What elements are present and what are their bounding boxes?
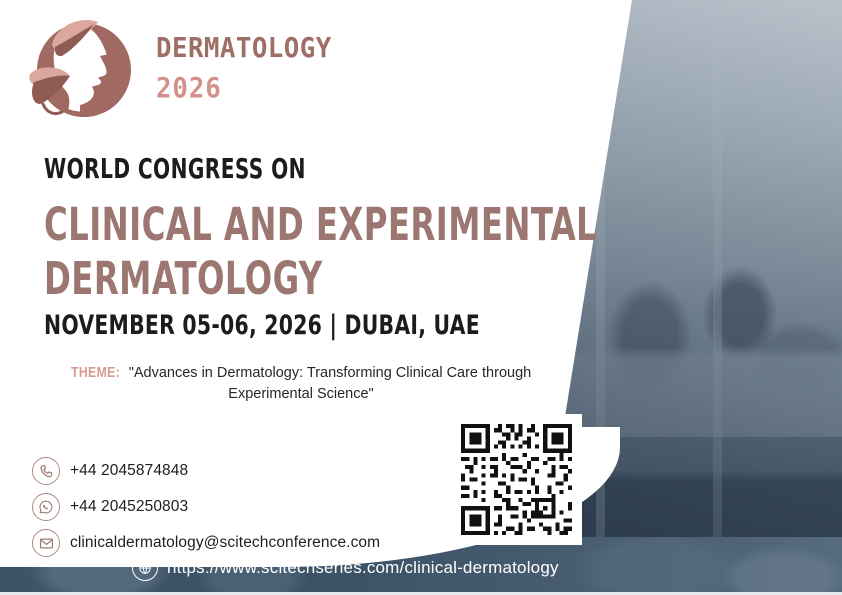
website-link[interactable]: https://www.scitechseries.com/clinical-d… bbox=[132, 555, 559, 581]
title-line-2: DERMATOLOGY bbox=[44, 252, 597, 306]
contact-row-whatsapp[interactable]: +44 2045250803 bbox=[32, 491, 380, 523]
phone-icon bbox=[32, 457, 60, 485]
globe-icon bbox=[132, 555, 158, 581]
woman-face-leaf-logo-icon bbox=[22, 12, 138, 128]
logo-wordmark: DERMATOLOGY 2026 bbox=[156, 34, 347, 102]
contact-list: +44 2045874848 +44 2045250803 clinicalde… bbox=[32, 455, 380, 563]
logo: DERMATOLOGY 2026 bbox=[22, 12, 312, 130]
theme-text: "Advances in Dermatology: Transforming C… bbox=[129, 365, 531, 402]
theme-block: THEME: "Advances in Dermatology: Transfo… bbox=[36, 362, 566, 405]
website-url: https://www.scitechseries.com/clinical-d… bbox=[167, 558, 559, 578]
logo-name-bottom: 2026 bbox=[156, 74, 332, 102]
conference-banner: DERMATOLOGY 2026 WORLD CONGRESS ON CLINI… bbox=[0, 0, 842, 595]
theme-label: THEME: bbox=[71, 362, 120, 383]
contact-row-phone[interactable]: +44 2045874848 bbox=[32, 455, 380, 487]
contact-value-whatsapp: +44 2045250803 bbox=[70, 498, 188, 516]
whatsapp-icon bbox=[32, 493, 60, 521]
email-icon bbox=[32, 529, 60, 557]
qr-code-icon[interactable] bbox=[451, 414, 582, 545]
event-kicker: WORLD CONGRESS ON bbox=[44, 152, 306, 185]
contact-value-phone: +44 2045874848 bbox=[70, 462, 188, 480]
contact-value-email: clinicaldermatology@scitechconference.co… bbox=[70, 534, 380, 552]
logo-name-top: DERMATOLOGY bbox=[156, 34, 332, 62]
page-title: CLINICAL AND EXPERIMENTAL DERMATOLOGY bbox=[44, 198, 597, 306]
title-line-1: CLINICAL AND EXPERIMENTAL bbox=[44, 198, 597, 252]
date-location: NOVEMBER 05-06, 2026 | DUBAI, UAE bbox=[44, 310, 480, 341]
